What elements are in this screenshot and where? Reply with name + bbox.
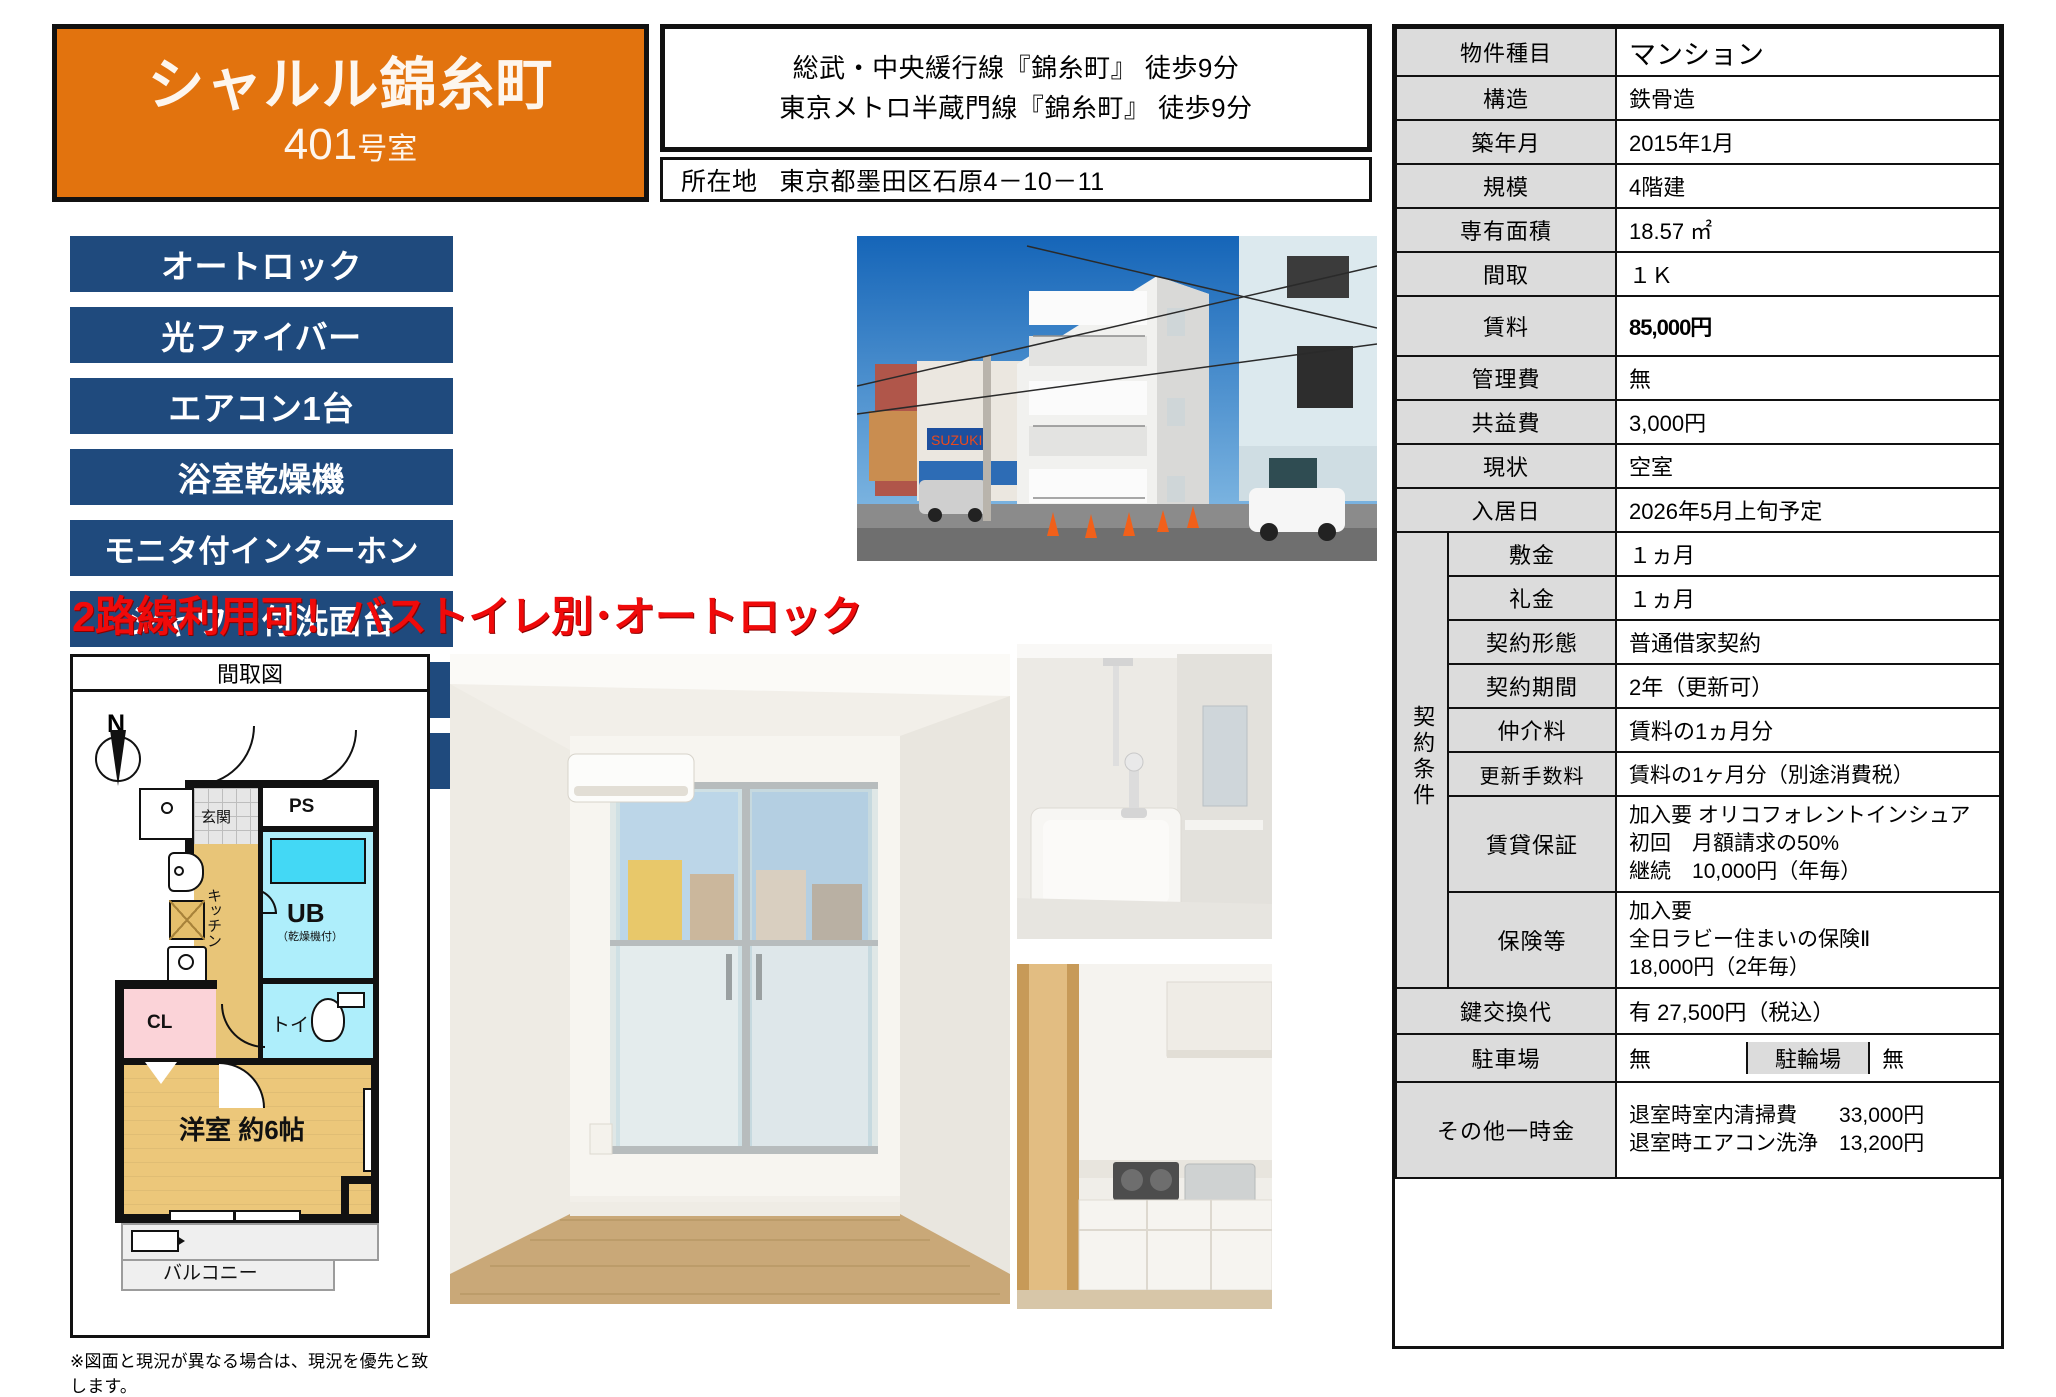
feature-label: 浴室乾燥機 [178,453,346,501]
spec-label: 間取 [1396,252,1616,296]
feature-label: 光ファイバー [161,311,361,359]
spec-label: 駐車場 [1396,1034,1616,1082]
compass-icon: N [91,714,145,786]
header-section: シャルル錦糸町 401号室 総武・中央緩行線『錦糸町』 徒歩9分 東京メトロ半蔵… [52,24,1372,204]
floorplan-title: 間取図 [70,654,430,692]
spec-label: 専有面積 [1396,208,1616,252]
building-name: シャルル錦糸町 [148,56,554,116]
spec-value: １Ｋ [1616,252,2000,296]
catch-copy-text: 2路線利用可！バストイレ別･オートロック [72,583,862,644]
myso-sheet: シャルル錦糸町 401号室 総武・中央緩行線『錦糸町』 徒歩9分 東京メトロ半蔵… [0,0,2056,1373]
spec-value: 有 27,500円（税込） [1616,988,2000,1034]
bicycle-parking-value: 無 [1869,1042,1999,1074]
spec-label: 鍵交換代 [1396,988,1616,1034]
spec-value: 空室 [1616,444,2000,488]
room-photo-svg [450,654,1010,1304]
floorplan-label-ps: PS [289,796,314,818]
spec-row-scale: 規模 4階建 [1396,164,2000,208]
bicycle-parking-label: 駐輪場 [1747,1042,1869,1074]
spec-row-area: 専有面積 18.57 ㎡ [1396,208,2000,252]
spec-value: 鉄骨造 [1616,76,2000,120]
svg-text:SUZUKI: SUZUKI [931,432,982,448]
spec-label: 賃料 [1396,296,1616,356]
spec-value: 2026年5月上旬予定 [1616,488,2000,532]
contract-row-renewal-fee: 更新手数料 賃料の1ヶ月分（別途消費税） [1396,752,2000,796]
floorplan-label-ub-note: （乾燥機付） [277,928,343,944]
contract-label: 仲介料 [1448,708,1616,752]
kitchen-photo [1017,964,1272,1309]
guarantee-line-2: 初回 月額請求の50% [1629,830,1987,858]
spec-label: 管理費 [1396,356,1616,400]
catch-copy: 2路線利用可！バストイレ別･オートロック [72,584,1072,642]
spec-label: 築年月 [1396,120,1616,164]
spec-value: 無 [1616,356,2000,400]
room-number-value: 401 [284,120,357,169]
contract-row-insurance: 保険等 加入要 全日ラビー住まいの保険Ⅱ 18,000円（2年毎） [1396,892,2000,988]
floorplan-label-kitchen: キッチン [203,888,224,948]
contract-label: 保険等 [1448,892,1616,988]
room-number-suffix: 号室 [357,133,417,166]
kitchen-photo-svg [1017,964,1272,1309]
spec-label: その他一時金 [1396,1082,1616,1178]
left-panel: シャルル錦糸町 401号室 総武・中央緩行線『錦糸町』 徒歩9分 東京メトロ半蔵… [52,24,1372,1349]
spec-row-move-in-date: 入居日 2026年5月上旬予定 [1396,488,2000,532]
address-box: 所在地 東京都墨田区石原4－10－11 [660,157,1372,202]
contract-value: 2年（更新可） [1616,664,2000,708]
spec-label: 物件種目 [1396,28,1616,76]
feature-label: エアコン1台 [168,382,354,430]
spec-label: 規模 [1396,164,1616,208]
contract-label: 敷金 [1448,532,1616,576]
spec-row-parking: 駐車場 無 駐輪場 無 [1396,1034,2000,1082]
insurance-line-2: 全日ラビー住まいの保険Ⅱ [1629,926,1987,954]
bathroom-photo [1017,644,1272,939]
contract-row-brokerage-fee: 仲介料 賃料の1ヵ月分 [1396,708,2000,752]
spec-label: 入居日 [1396,488,1616,532]
contract-value-multiline: 加入要 オリコフォレントインシュア 初回 月額請求の50% 継続 10,000円… [1616,796,2000,892]
floorplan-label-room: 洋室 約6帖 [179,1110,305,1147]
spec-table: 物件種目 マンション 構造 鉄骨造 築年月 2015年1月 規模 4階建 専有面… [1395,27,2001,1179]
contract-label: 礼金 [1448,576,1616,620]
spec-value: マンション [1616,28,2000,76]
address-value: 東京都墨田区石原4－10－11 [780,162,1105,198]
access-line-2: 東京メトロ半蔵門線『錦糸町』 徒歩9分 [779,88,1252,128]
floorplan-label-cl: CL [147,1012,172,1034]
contract-label: 賃貸保証 [1448,796,1616,892]
feature-column-left: オートロック 光ファイバー エアコン1台 浴室乾燥機 [70,236,453,520]
spec-table-panel: 物件種目 マンション 構造 鉄骨造 築年月 2015年1月 規模 4階建 専有面… [1392,24,2004,1349]
contract-label: 契約期間 [1448,664,1616,708]
spec-row-management-fee: 管理費 無 [1396,356,2000,400]
spec-row-other-fees: その他一時金 退室時室内清掃費 33,000円 退室時エアコン洗浄 13,200… [1396,1082,2000,1178]
parking-inner-table: 無 駐輪場 無 [1617,1042,1999,1074]
property-title-box: シャルル錦糸町 401号室 [52,24,649,202]
spec-row-common-fee: 共益費 3,000円 [1396,400,2000,444]
contract-value: １ヵ月 [1616,532,2000,576]
spec-row-structure: 構造 鉄骨造 [1396,76,2000,120]
floorplan-label-balcony: バルコニー [163,1258,258,1285]
spec-row-status: 現状 空室 [1396,444,2000,488]
insurance-line-3: 18,000円（2年毎） [1629,954,1987,982]
address-label: 所在地 [681,162,758,198]
other-fees-multiline: 退室時室内清掃費 33,000円 退室時エアコン洗浄 13,200円 [1616,1082,2000,1178]
parking-value: 無 [1617,1042,1747,1074]
feature-badge: モニタ付インターホン [70,520,453,576]
contract-row-contract-period: 契約期間 2年（更新可） [1396,664,2000,708]
feature-label: モニタ付インターホン [104,526,419,571]
access-box: 総武・中央緩行線『錦糸町』 徒歩9分 東京メトロ半蔵門線『錦糸町』 徒歩9分 [660,24,1372,152]
feature-badge: 光ファイバー [70,307,453,363]
floorplan-disclaimer: ※図面と現況が異なる場合は、現況を優先と致します。 [70,1347,430,1397]
contract-row-deposit: 契約条件 敷金 １ヵ月 [1396,532,2000,576]
building-exterior-photo: SUZUKI [857,236,1377,561]
feature-label: オートロック [161,240,362,288]
spec-value: 2015年1月 [1616,120,2000,164]
spec-value: 18.57 ㎡ [1616,208,2000,252]
spec-row-built-date: 築年月 2015年1月 [1396,120,2000,164]
contract-value: 賃料の1ヵ月分 [1616,708,2000,752]
insurance-line-1: 加入要 [1629,898,1987,926]
floorplan-drawing: N 玄関 [70,692,430,1338]
spec-row-rent: 賃料 85,000円 [1396,296,2000,356]
parking-split-cell: 無 駐輪場 無 [1616,1034,2000,1082]
contract-label: 契約形態 [1448,620,1616,664]
guarantee-line-3: 継続 10,000円（年毎） [1629,858,1987,886]
feature-badge: エアコン1台 [70,378,453,434]
contract-group-label: 契約条件 [1396,532,1448,988]
guarantee-line-1: 加入要 オリコフォレントインシュア [1629,802,1987,830]
feature-badge: 浴室乾燥機 [70,449,453,505]
floorplan-section: 間取図 N 玄関 [70,654,430,1397]
spec-label: 現状 [1396,444,1616,488]
floorplan-label-genkan: 玄関 [201,806,231,827]
floorplan-label-ub: UB [287,898,325,929]
spec-row-layout: 間取 １Ｋ [1396,252,2000,296]
contract-value-multiline: 加入要 全日ラビー住まいの保険Ⅱ 18,000円（2年毎） [1616,892,2000,988]
access-line-1: 総武・中央緩行線『錦糸町』 徒歩9分 [793,48,1240,88]
other-fee-line-1: 退室時室内清掃費 33,000円 [1629,1102,1987,1130]
contract-row-contract-type: 契約形態 普通借家契約 [1396,620,2000,664]
feature-badge: オートロック [70,236,453,292]
spec-row-property-type: 物件種目 マンション [1396,28,2000,76]
spec-row-key-exchange-fee: 鍵交換代 有 27,500円（税込） [1396,988,2000,1034]
room-interior-photo [450,654,1010,1304]
spec-value: 4階建 [1616,164,2000,208]
spec-label: 共益費 [1396,400,1616,444]
contract-row-rent-guarantee: 賃貸保証 加入要 オリコフォレントインシュア 初回 月額請求の50% 継続 10… [1396,796,2000,892]
building-photo-svg: SUZUKI [857,236,1377,561]
room-number: 401号室 [284,120,417,171]
contract-value: 普通借家契約 [1616,620,2000,664]
rent-value: 85,000円 [1616,296,2000,356]
spec-value: 3,000円 [1616,400,2000,444]
contract-row-key-money: 礼金 １ヵ月 [1396,576,2000,620]
bathroom-photo-svg [1017,644,1272,939]
contract-value: 賃料の1ヶ月分（別途消費税） [1616,752,2000,796]
other-fee-line-2: 退室時エアコン洗浄 13,200円 [1629,1130,1987,1158]
spec-label: 構造 [1396,76,1616,120]
contract-label: 更新手数料 [1448,752,1616,796]
contract-value: １ヵ月 [1616,576,2000,620]
